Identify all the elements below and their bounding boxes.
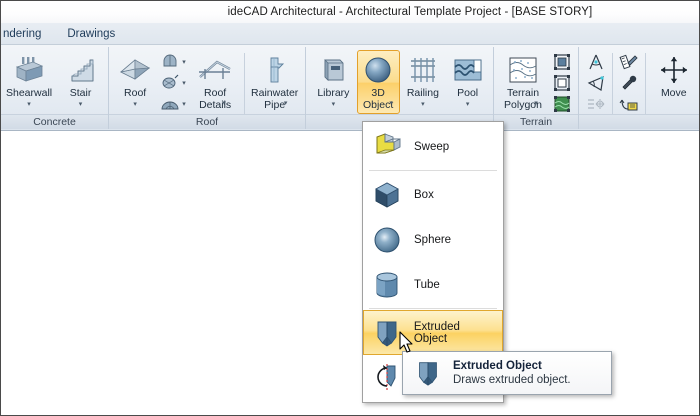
align-icon — [586, 95, 606, 114]
ribbon-group-concrete-label: Concrete — [1, 114, 108, 129]
pool-button[interactable]: Pool ▾ — [446, 50, 489, 114]
dormer-icon — [160, 53, 180, 71]
tab-rendering[interactable]: ndering — [1, 23, 54, 44]
dormer-button[interactable]: ▾ — [157, 52, 189, 72]
sphere-icon — [370, 224, 404, 256]
railing-caret-icon[interactable]: ▾ — [421, 101, 425, 109]
tooltip-title: Extruded Object — [453, 360, 571, 372]
tools-divider-2 — [645, 53, 646, 114]
ribbon-group-roof: Roof ▾ ▾ — [109, 47, 306, 129]
angle-icon — [586, 74, 606, 93]
move-button[interactable]: Move — [653, 50, 695, 114]
rainwater-pipe-button[interactable]: Rainwater Pipe ▾ — [248, 50, 301, 114]
menu-item-extruded-object-label: Extruded Object — [414, 321, 496, 345]
skylight-caret-icon[interactable]: ▾ — [182, 79, 186, 87]
roof-details-button[interactable]: Roof Details ▾ — [189, 50, 242, 114]
railing-button[interactable]: Railing ▾ — [402, 50, 445, 114]
terrain-mesh-icon — [553, 95, 571, 113]
tools-divider-1 — [612, 53, 613, 114]
compass-icon — [586, 53, 606, 72]
roof-button[interactable]: Roof ▾ — [113, 50, 157, 114]
pool-caret-icon[interactable]: ▾ — [466, 101, 470, 109]
rotational-object-icon — [370, 362, 404, 394]
shearwall-caret-icon[interactable]: ▾ — [27, 101, 31, 109]
application-window: ideCAD Architectural - Architectural Tem… — [0, 0, 700, 416]
library-label: Library — [317, 88, 349, 100]
3d-object-caret-icon[interactable]: ▾ — [389, 100, 393, 108]
menu-separator-2 — [369, 308, 497, 309]
skylight-icon — [160, 74, 180, 92]
ribbon: Shearwall ▾ Stair ▾ — [1, 45, 699, 131]
roof-group-divider — [244, 53, 245, 114]
tab-drawings-label: Drawings — [67, 28, 115, 40]
roof-caret-icon[interactable]: ▾ — [133, 101, 137, 109]
vault-roof-caret-icon[interactable]: ▾ — [182, 100, 186, 108]
3d-object-button[interactable]: 3D Object ▾ — [357, 50, 400, 114]
roof-label: Roof — [124, 88, 146, 100]
terrain-solid-icon — [553, 53, 571, 71]
ribbon-group-terrain: Terrain Polygon ▾ — [494, 47, 579, 129]
roof-details-label: Roof Details — [199, 88, 231, 111]
compass-button[interactable] — [583, 52, 609, 72]
ribbon-group-concrete: Shearwall ▾ Stair ▾ — [1, 47, 109, 129]
roof-small-buttons: ▾ ▾ — [157, 50, 189, 114]
terrain-solid-button[interactable] — [550, 52, 574, 72]
title-bar: ideCAD Architectural - Architectural Tem… — [1, 1, 699, 23]
shearwall-button[interactable]: Shearwall ▾ — [5, 50, 53, 114]
shearwall-icon — [13, 54, 45, 86]
stair-button[interactable]: Stair ▾ — [57, 50, 104, 114]
extruded-object-icon — [411, 358, 445, 388]
roof-details-caret-icon[interactable]: ▾ — [222, 100, 226, 108]
tools-small-column-1 — [583, 50, 609, 114]
ribbon-tab-strip: ndering Drawings — [1, 23, 699, 45]
vault-roof-button[interactable]: ▾ — [157, 94, 189, 114]
ribbon-group-tools-label — [579, 114, 699, 129]
menu-item-extruded-object[interactable]: Extruded Object — [363, 310, 503, 355]
rainwater-pipe-label: Rainwater Pipe — [251, 88, 298, 111]
menu-item-sweep[interactable]: Sweep — [363, 124, 503, 169]
menu-item-sphere-label: Sphere — [414, 234, 451, 246]
stair-icon — [65, 54, 97, 86]
stair-caret-icon[interactable]: ▾ — [79, 101, 83, 109]
align-button[interactable] — [583, 94, 609, 114]
library-caret-icon[interactable]: ▾ — [332, 101, 336, 109]
menu-item-sweep-label: Sweep — [414, 141, 449, 153]
box-icon — [370, 179, 404, 211]
sweep-icon — [370, 131, 404, 163]
tools-small-column-2 — [616, 50, 642, 114]
window-title: ideCAD Architectural - Architectural Tem… — [228, 6, 593, 18]
library-icon — [318, 54, 348, 86]
menu-item-box[interactable]: Box — [363, 172, 503, 217]
tube-icon — [370, 269, 404, 301]
pool-icon — [452, 54, 484, 86]
shearwall-label: Shearwall — [6, 88, 52, 100]
rainwater-pipe-icon — [260, 54, 290, 86]
label-icon — [619, 95, 639, 114]
skylight-button[interactable]: ▾ — [157, 73, 189, 93]
stair-label: Stair — [70, 88, 92, 100]
vault-roof-icon — [160, 95, 180, 113]
dormer-caret-icon[interactable]: ▾ — [182, 58, 186, 66]
menu-item-tube-label: Tube — [414, 279, 440, 291]
railing-icon — [407, 54, 439, 86]
measure-pen-button[interactable] — [616, 52, 642, 72]
terrain-polygon-icon — [507, 54, 539, 86]
terrain-polygon-caret-icon[interactable]: ▾ — [534, 100, 538, 108]
tooltip-description: Draws extruded object. — [453, 374, 571, 386]
ribbon-group-objects: Library ▾ — [306, 47, 494, 129]
ribbon-group-tools: Move — [579, 47, 699, 129]
menu-item-tube[interactable]: Tube — [363, 262, 503, 307]
menu-item-box-label: Box — [414, 189, 434, 201]
move-icon — [658, 54, 690, 86]
measure-pen-icon — [619, 53, 639, 72]
mouse-cursor — [399, 331, 415, 355]
menu-item-sphere[interactable]: Sphere — [363, 217, 503, 262]
angle-button[interactable] — [583, 73, 609, 93]
railing-label: Railing — [407, 88, 439, 100]
terrain-outline-icon — [553, 74, 571, 92]
tooltip: Extruded Object Draws extruded object. — [402, 351, 612, 395]
move-label: Move — [661, 88, 687, 100]
eyedropper-icon — [619, 74, 639, 93]
ribbon-group-roof-label: Roof — [109, 114, 305, 129]
tab-rendering-label: ndering — [3, 28, 41, 40]
roof-details-icon — [197, 54, 233, 86]
pool-label: Pool — [457, 88, 478, 100]
terrain-polygon-button[interactable]: Terrain Polygon ▾ — [498, 50, 548, 114]
3d-object-icon — [362, 54, 394, 86]
tab-drawings[interactable]: Drawings — [54, 23, 128, 44]
label-button[interactable] — [616, 94, 642, 114]
terrain-small-buttons — [550, 50, 574, 114]
terrain-outline-button[interactable] — [550, 73, 574, 93]
roof-icon — [118, 54, 152, 86]
rainwater-pipe-caret-icon[interactable]: ▾ — [284, 100, 288, 108]
terrain-mesh-button[interactable] — [550, 94, 574, 114]
menu-separator-1 — [369, 170, 497, 171]
library-button[interactable]: Library ▾ — [312, 50, 355, 114]
ribbon-group-terrain-label: Terrain — [494, 114, 578, 129]
eyedropper-button[interactable] — [616, 73, 642, 93]
